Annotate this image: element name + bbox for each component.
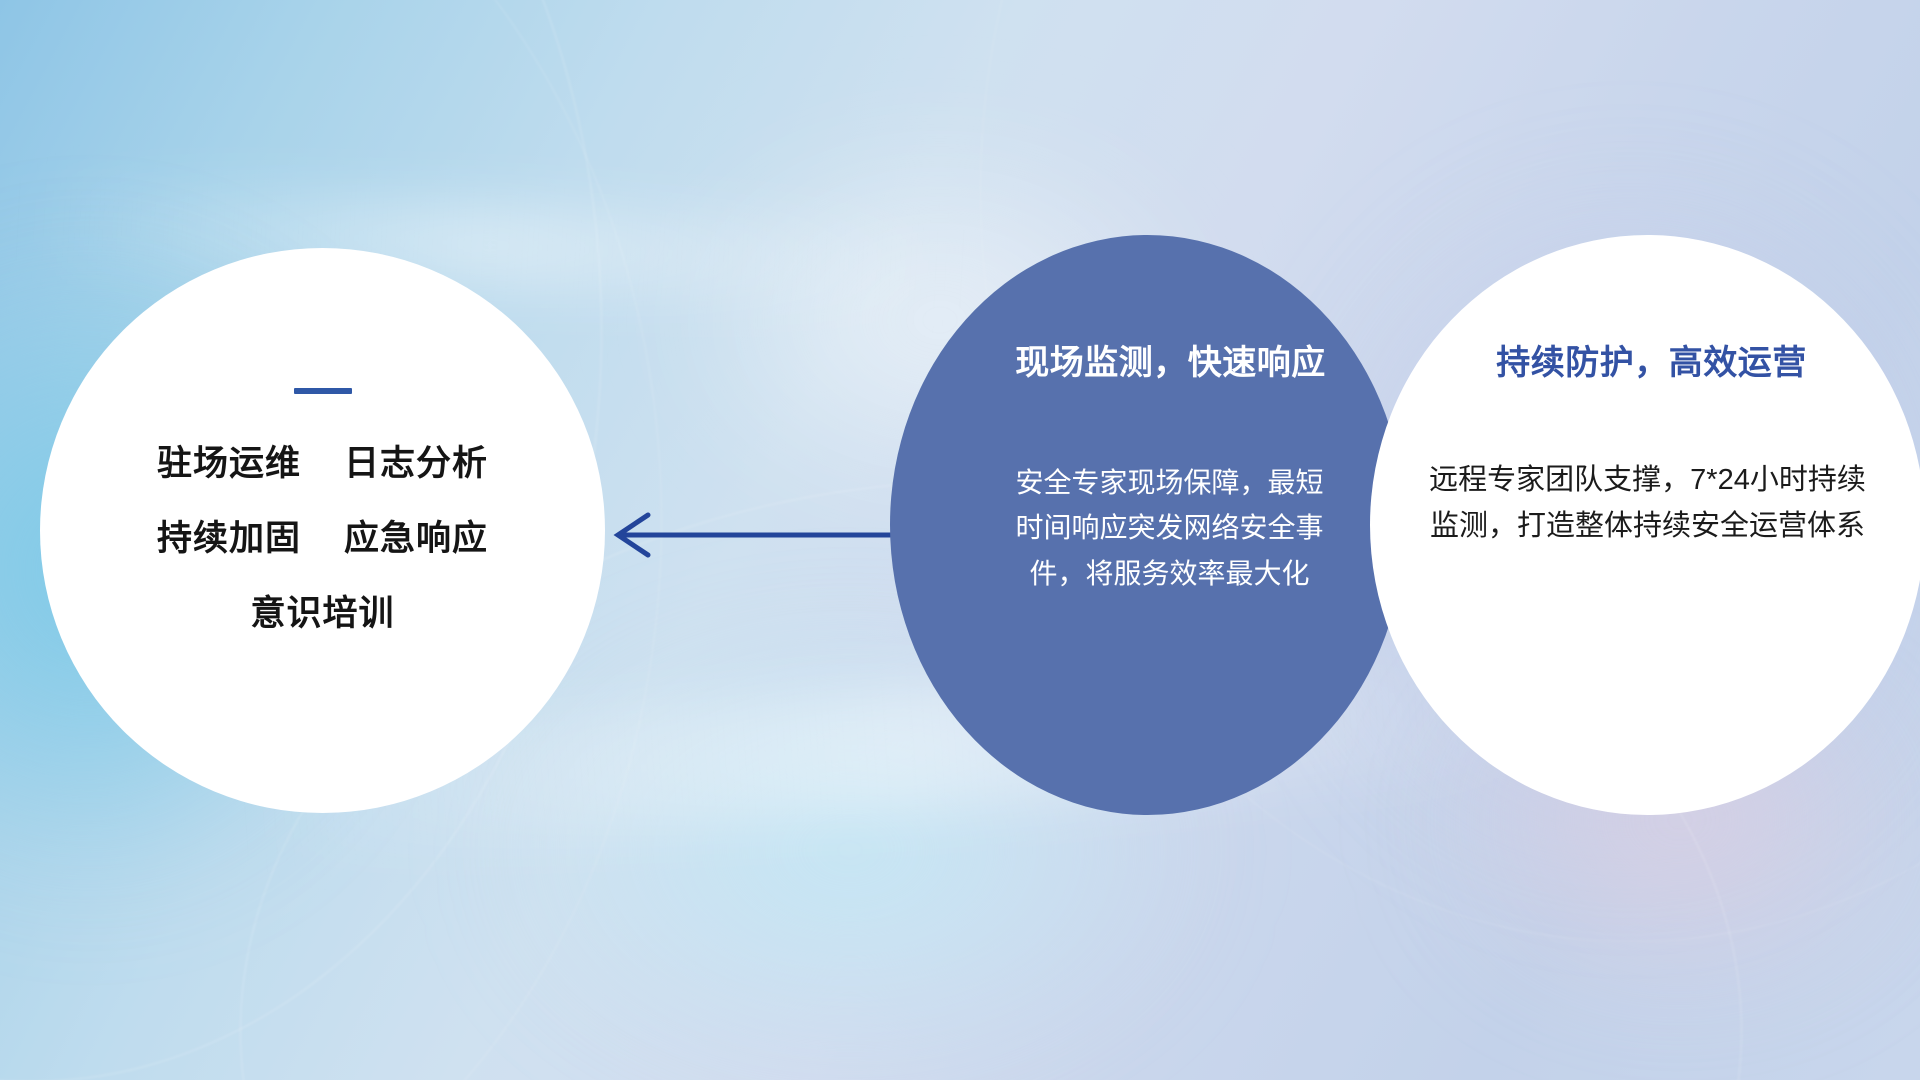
accent-dash-icon	[294, 388, 352, 394]
service-card-continuous: 持续防护，高效运营 远程专家团队支撑，7*24小时持续监测，打造整体持续安全运营…	[1370, 235, 1920, 815]
onsite-card-title: 现场监测，快速响应	[1015, 335, 1326, 384]
continuous-card-title: 持续防护，高效运营	[1496, 335, 1807, 384]
flow-arrow-left	[600, 505, 930, 565]
onsite-card-body: 安全专家现场保障，最短时间响应突发网络安全事件，将服务效率最大化	[1005, 460, 1335, 596]
capability-line-1: 驻场运维 日志分析	[157, 446, 488, 481]
service-card-capabilities: 驻场运维 日志分析 持续加固 应急响应 意识培训	[40, 248, 605, 813]
capability-line-3: 意识培训	[250, 596, 394, 631]
capability-line-2: 持续加固 应急响应	[157, 521, 488, 556]
continuous-card-body: 远程专家团队支撑，7*24小时持续监测，打造整体持续安全运营体系	[1425, 458, 1870, 550]
service-card-onsite: 现场监测，快速响应 安全专家现场保障，最短时间响应突发网络安全事件，将服务效率最…	[890, 235, 1405, 815]
